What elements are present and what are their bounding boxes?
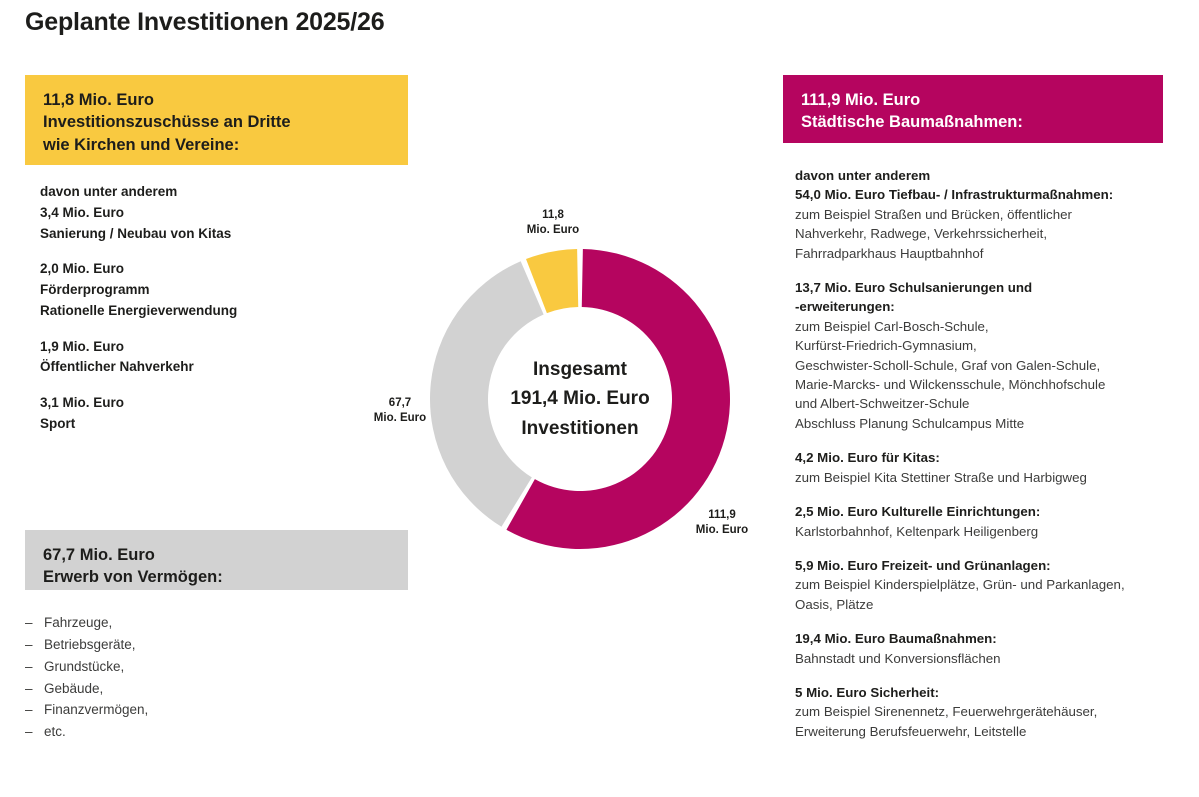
grants-detail-desc: Sanierung / Neubau von Kitas [40, 224, 410, 245]
donut-label-assets: 67,7 Mio. Euro [355, 396, 445, 427]
construction-body: Geschwister-Scholl-Schule, Graf von Gale… [795, 356, 1185, 375]
assets-title: Erwerb von Vermögen: [43, 566, 390, 588]
construction-title: Städtische Baumaßnahmen: [801, 111, 1145, 133]
construction-body: zum Beispiel Kinderspielplätze, Grün- un… [795, 575, 1185, 594]
grants-detail-amount: 1,9 Mio. Euro [40, 337, 410, 358]
list-item-label: Grundstücke, [44, 656, 124, 678]
construction-heading: 54,0 Mio. Euro Tiefbau- / Infrastrukturm… [795, 185, 1185, 204]
construction-body: Erweiterung Berufsfeuerwehr, Leitstelle [795, 722, 1185, 741]
construction-detail-item: 5 Mio. Euro Sicherheit: zum Beispiel Sir… [795, 683, 1185, 741]
grants-title-line-1: Investitionszuschüsse an Dritte [43, 111, 390, 133]
dash-bullet-icon: – [25, 678, 34, 700]
construction-body: Kurfürst-Friedrich-Gymnasium, [795, 336, 1185, 355]
grants-detail-item: 1,9 Mio. Euro Öffentlicher Nahverkehr [40, 337, 410, 379]
construction-heading: -erweiterungen: [795, 297, 1185, 316]
construction-body: Fahrradparkhaus Hauptbahnhof [795, 244, 1185, 263]
donut-label-grants: 11,8 Mio. Euro [498, 208, 608, 239]
donut-label-unit: Mio. Euro [355, 411, 445, 426]
list-item: – Finanzvermögen, [25, 699, 405, 721]
page-title: Geplante Investitionen 2025/26 [25, 8, 384, 37]
grants-title-line-2: wie Kirchen und Vereine: [43, 134, 390, 156]
construction-heading: 4,2 Mio. Euro für Kitas: [795, 448, 1185, 467]
donut-label-value: 67,7 [355, 396, 445, 411]
construction-heading: 5 Mio. Euro Sicherheit: [795, 683, 1185, 702]
municipal-construction-header-band: 111,9 Mio. Euro Städtische Baumaßnahmen: [783, 75, 1163, 143]
list-item-label: etc. [44, 721, 66, 743]
list-item: – Gebäude, [25, 678, 405, 700]
construction-detail-item: 13,7 Mio. Euro Schulsanierungen und -erw… [795, 278, 1185, 433]
assets-amount: 67,7 Mio. Euro [43, 544, 390, 566]
donut-label-unit: Mio. Euro [498, 223, 608, 238]
list-item-label: Gebäude, [44, 678, 103, 700]
list-item-label: Finanzvermögen, [44, 699, 148, 721]
grants-detail-item: 2,0 Mio. Euro Förderprogramm Rationelle … [40, 259, 410, 321]
construction-body: und Albert-Schweitzer-Schule [795, 394, 1185, 413]
construction-heading: 2,5 Mio. Euro Kulturelle Einrichtungen: [795, 502, 1185, 521]
list-item: – Fahrzeuge, [25, 612, 405, 634]
construction-detail-list: davon unter anderem 54,0 Mio. Euro Tiefb… [795, 166, 1185, 741]
grants-detail-desc: Öffentlicher Nahverkehr [40, 357, 410, 378]
dash-bullet-icon: – [25, 699, 34, 721]
grants-detail-amount: 2,0 Mio. Euro [40, 259, 410, 280]
construction-intro: davon unter anderem [795, 166, 1185, 185]
list-item-label: Betriebsgeräte, [44, 634, 136, 656]
investment-grants-header-band: 11,8 Mio. Euro Investitionszuschüsse an … [25, 75, 408, 165]
construction-detail-item: 5,9 Mio. Euro Freizeit- und Grünanlagen:… [795, 556, 1185, 614]
construction-body: Nahverkehr, Radwege, Verkehrssicherheit, [795, 224, 1185, 243]
list-item: – etc. [25, 721, 405, 743]
donut-label-value: 11,8 [498, 208, 608, 223]
construction-heading: 5,9 Mio. Euro Freizeit- und Grünanlagen: [795, 556, 1185, 575]
donut-label-value: 111,9 [672, 508, 772, 523]
construction-detail-item: 19,4 Mio. Euro Baumaßnahmen: Bahnstadt u… [795, 629, 1185, 668]
asset-acquisition-header-band: 67,7 Mio. Euro Erwerb von Vermögen: [25, 530, 408, 590]
construction-body: Bahnstadt und Konversionsflächen [795, 649, 1185, 668]
grants-detail-intro: davon unter anderem [40, 182, 410, 203]
construction-detail-item: 2,5 Mio. Euro Kulturelle Einrichtungen: … [795, 502, 1185, 541]
donut-slice-1 [430, 261, 544, 527]
dash-bullet-icon: – [25, 634, 34, 656]
construction-detail-item: 4,2 Mio. Euro für Kitas: zum Beispiel Ki… [795, 448, 1185, 487]
construction-body: Marie-Marcks- und Wilckensschule, Mönchh… [795, 375, 1185, 394]
construction-amount: 111,9 Mio. Euro [801, 89, 1145, 111]
construction-body: Karlstorbahnhof, Keltenpark Heiligenberg [795, 522, 1185, 541]
grants-detail-amount: 3,4 Mio. Euro [40, 203, 410, 224]
construction-heading: 13,7 Mio. Euro Schulsanierungen und [795, 278, 1185, 297]
construction-body: zum Beispiel Straßen und Brücken, öffent… [795, 205, 1185, 224]
donut-label-construction: 111,9 Mio. Euro [672, 508, 772, 539]
asset-bullet-list: – Fahrzeuge, – Betriebsgeräte, – Grundst… [25, 612, 405, 743]
construction-body: zum Beispiel Sirenennetz, Feuerwehrgerät… [795, 702, 1185, 721]
construction-body: Abschluss Planung Schulcampus Mitte [795, 414, 1185, 433]
list-item-label: Fahrzeuge, [44, 612, 112, 634]
donut-label-unit: Mio. Euro [672, 523, 772, 538]
grants-amount: 11,8 Mio. Euro [43, 89, 390, 111]
construction-body: Oasis, Plätze [795, 595, 1185, 614]
grants-detail-item: davon unter anderem 3,4 Mio. Euro Sanier… [40, 182, 410, 244]
dash-bullet-icon: – [25, 656, 34, 678]
dash-bullet-icon: – [25, 721, 34, 743]
construction-body: zum Beispiel Carl-Bosch-Schule, [795, 317, 1185, 336]
list-item: – Betriebsgeräte, [25, 634, 405, 656]
list-item: – Grundstücke, [25, 656, 405, 678]
dash-bullet-icon: – [25, 612, 34, 634]
construction-body: zum Beispiel Kita Stettiner Straße und H… [795, 468, 1185, 487]
grants-detail-desc: Rationelle Energieverwendung [40, 301, 410, 322]
construction-heading: 19,4 Mio. Euro Baumaßnahmen: [795, 629, 1185, 648]
grants-detail-desc: Förderprogramm [40, 280, 410, 301]
construction-detail-item: davon unter anderem 54,0 Mio. Euro Tiefb… [795, 166, 1185, 263]
